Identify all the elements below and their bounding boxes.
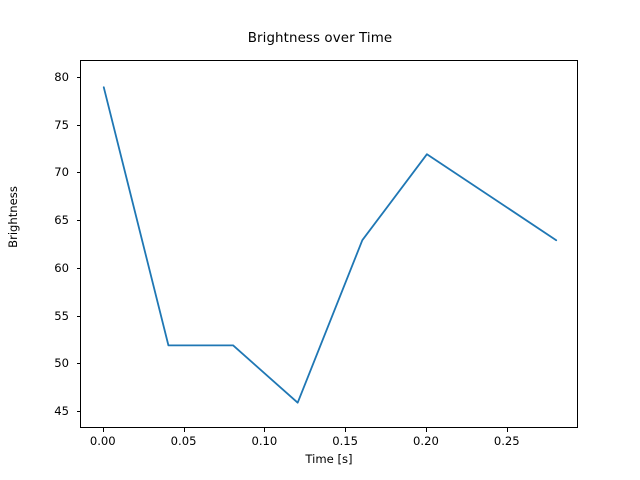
x-tick-label: 0.20 (413, 434, 439, 448)
x-tick (103, 428, 104, 432)
plot-area (80, 60, 578, 428)
y-tick-label: 50 (0, 356, 69, 370)
y-tick (77, 220, 81, 221)
x-axis-label: Time [s] (80, 452, 578, 466)
data-line-series (81, 61, 578, 428)
x-tick-label: 0.15 (332, 434, 358, 448)
series-brightness-polyline (104, 87, 556, 402)
x-tick (426, 428, 427, 432)
y-tick (77, 172, 81, 173)
x-tick-label: 0.05 (171, 434, 197, 448)
figure-canvas: Brightness over Time 0.000.050.100.150.2… (0, 0, 640, 480)
y-tick-label: 45 (0, 404, 69, 418)
y-tick (77, 316, 81, 317)
x-tick-label: 0.10 (251, 434, 277, 448)
x-tick-label: 0.25 (494, 434, 520, 448)
y-tick (77, 125, 81, 126)
x-tick-label: 0.00 (90, 434, 116, 448)
y-tick-label: 55 (0, 309, 69, 323)
y-tick (77, 268, 81, 269)
y-tick (77, 411, 81, 412)
y-tick (77, 77, 81, 78)
y-tick-label: 75 (0, 118, 69, 132)
x-tick (345, 428, 346, 432)
x-tick (507, 428, 508, 432)
x-tick (264, 428, 265, 432)
y-tick-label: 80 (0, 70, 69, 84)
y-axis-label: Brightness (6, 137, 20, 297)
chart-title: Brightness over Time (0, 31, 640, 46)
x-tick (184, 428, 185, 432)
y-tick (77, 363, 81, 364)
